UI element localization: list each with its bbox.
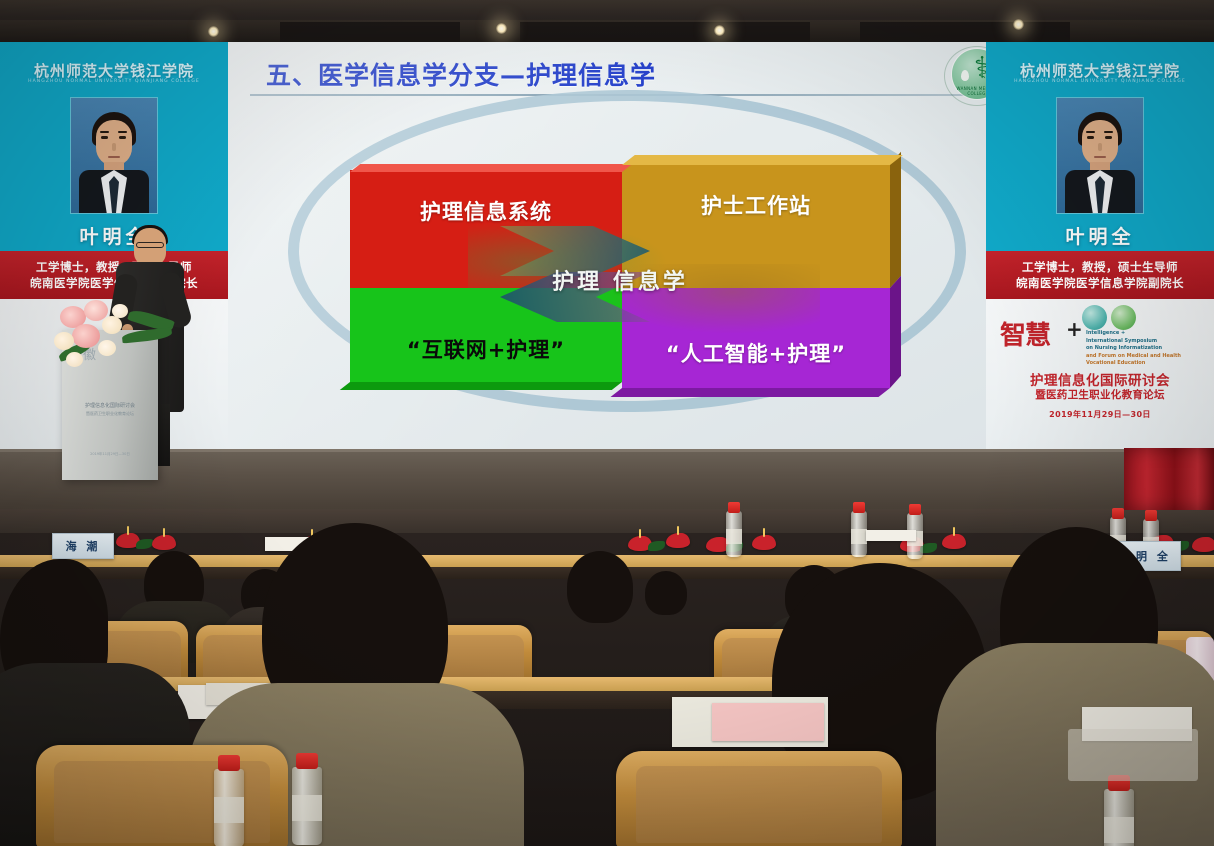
credentials-line-1: 工学博士，教授，硕士生导师 <box>1022 259 1178 275</box>
conference-logo-icon <box>1082 305 1146 331</box>
lectern-flower-arrangement <box>54 300 176 374</box>
ceiling-panel <box>520 22 810 44</box>
audience-head <box>567 551 633 623</box>
ceiling-spotlight <box>208 26 219 37</box>
credentials-line-2: 皖南医学院医学信息学院副院长 <box>1016 275 1184 291</box>
page-title: 五、医学信息学分支—护理信息学 <box>266 56 656 92</box>
ceiling-spotlight <box>496 23 507 34</box>
conference-title-cn-2: 暨医药卫生职业化教育论坛 <box>986 387 1214 402</box>
water-bottle <box>851 511 867 557</box>
nameplate-left: 海 潮 <box>52 533 114 559</box>
nameplate-left-text: 海 潮 <box>66 538 101 554</box>
auditorium-chair-front <box>616 751 902 846</box>
conference-date: 2019年11月29日—30日 <box>986 409 1214 420</box>
conference-brand-cn: 智慧 <box>1000 315 1050 352</box>
tagline-en-2: International Symposium <box>1086 338 1210 346</box>
water-bottle-foreground <box>214 769 244 846</box>
conference-tagline-en: Intelligence + International Symposium o… <box>1086 330 1210 368</box>
speaker-credentials: 工学博士，教授，硕士生导师 皖南医学院医学信息学院副院长 <box>986 251 1214 299</box>
lectern-line-3: 2019年11月29日—30日 <box>62 452 158 457</box>
water-bottle <box>726 511 742 557</box>
water-bottle-foreground <box>1104 789 1134 846</box>
presentation-slide: 五、医学信息学分支—护理信息学 ⚕ WANNAN MEDICAL COLLEGE… <box>228 42 1018 449</box>
conference-branding-block-right: 智慧 + Intelligence + International Sympos… <box>986 299 1214 449</box>
conference-brand-plus: + <box>1066 317 1083 341</box>
audience-head <box>645 571 687 615</box>
water-bottle-foreground <box>292 767 322 845</box>
tagline-en-4: and Forum on Medical and Health <box>1086 353 1210 361</box>
plastic-bag <box>1068 729 1198 781</box>
speaker-panel-right: 杭州师范大学钱江学院 HANGZHOU NORMAL UNIVERSITY QI… <box>986 42 1214 449</box>
speaker-name: 叶明全 <box>986 222 1214 249</box>
university-name-en: HANGZHOU NORMAL UNIVERSITY QIANJIANG COL… <box>986 79 1214 84</box>
tagline-en-5: Vocational Education <box>1086 360 1210 368</box>
ceiling-panel <box>860 22 1070 44</box>
stage-curtain <box>1124 448 1214 510</box>
audience-area: 海 潮 叶 明 全 <box>0 533 1214 846</box>
university-name-cn: 杭州师范大学钱江学院 <box>0 60 228 81</box>
ceiling <box>0 0 1214 44</box>
speaker-portrait <box>1057 98 1143 213</box>
ceiling-spotlight <box>1013 19 1024 30</box>
pink-handout <box>712 703 824 741</box>
conference-photo: 杭州师范大学钱江学院 HANGZHOU NORMAL UNIVERSITY QI… <box>0 0 1214 846</box>
lectern-line-1: 护理信息化国际研讨会 <box>62 402 158 409</box>
ceiling-panel <box>280 22 460 44</box>
auditorium-chair-front <box>36 745 288 846</box>
lectern-line-2: 暨医药卫生职业化教育论坛 <box>62 411 158 417</box>
title-divider <box>250 94 992 96</box>
paper-sheet <box>866 530 916 541</box>
university-name-en: HANGZHOU NORMAL UNIVERSITY QIANJIANG COL… <box>0 79 228 84</box>
ceiling-spotlight <box>714 25 725 36</box>
conference-title-cn-1: 护理信息化国际研讨会 <box>986 369 1214 389</box>
speaker-portrait <box>71 98 157 213</box>
tagline-en-1: Intelligence + <box>1086 330 1210 338</box>
diagram-center-label: 护理 信息学 <box>350 264 890 296</box>
tagline-en-3: on Nursing Informatization <box>1086 345 1210 353</box>
university-name-cn: 杭州师范大学钱江学院 <box>986 60 1214 81</box>
four-quadrant-diagram: 护士工作站 “人工智能+护理” 护理信息系统 “互联网+护理” 护理 信息学 <box>350 164 890 382</box>
